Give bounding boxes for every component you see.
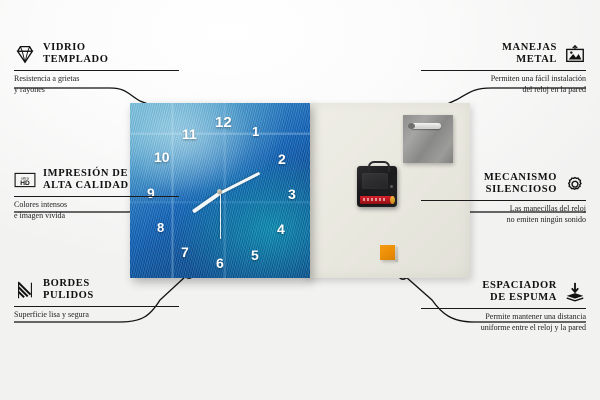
diamond-icon [14, 43, 36, 65]
clock-numeral-11: 11 [182, 127, 197, 141]
clock-numeral-7: 7 [181, 245, 189, 259]
feature-title: VIDRIO TEMPLADO [43, 42, 108, 67]
feature-divider [14, 196, 179, 197]
feature-desc: Colores intensos e imagen vívida [14, 200, 179, 222]
movement-screw [390, 185, 393, 188]
feature-divider [421, 200, 586, 201]
feature-title-line1: ESPACIADOR [421, 280, 557, 292]
clock-numeral-12: 12 [215, 115, 232, 130]
wall-hanger-icon [564, 43, 586, 65]
feature-head: ultra HD IMPRESIÓN DE ALTA CALIDAD [14, 168, 179, 193]
feature-vidrio-templado: VIDRIO TEMPLADO Resistencia a grietas y … [14, 42, 179, 95]
feature-title-line1: MECANISMO [421, 172, 557, 184]
feature-mecanismo-silencioso: MECANISMO SILENCIOSO Las manecillas del … [421, 172, 586, 225]
ultra-hd-icon: ultra HD [14, 169, 36, 191]
feature-head: ESPACIADOR DE ESPUMA [421, 280, 586, 305]
feature-divider [421, 308, 586, 309]
polished-edges-icon [14, 279, 36, 301]
product-photo: 12 1 2 3 4 5 6 7 8 9 10 11 [130, 103, 470, 278]
battery [360, 196, 394, 204]
feature-desc-line1: Superficie lisa y segura [14, 310, 179, 321]
movement-hanging-loop [368, 161, 390, 172]
feature-desc-line2: no emiten ningún sonido [421, 215, 586, 226]
feature-title-line1: MANEJAS [421, 42, 557, 54]
feature-title-line1: BORDES [43, 278, 94, 290]
feature-divider [14, 70, 179, 71]
clock-numeral-3: 3 [288, 187, 296, 201]
feature-desc: Las manecillas del reloj no emiten ningú… [421, 204, 586, 226]
battery-terminal [390, 196, 395, 204]
feature-divider [421, 70, 586, 71]
clock-numeral-4: 4 [277, 222, 285, 236]
feature-desc-line1: Resistencia a grietas [14, 74, 179, 85]
gear-icon [564, 173, 586, 195]
clock-numeral-1: 1 [252, 125, 259, 138]
hanger-keyhole-slot [411, 123, 441, 129]
feature-desc-line1: Colores intensos [14, 200, 179, 211]
feature-desc: Permiten una fácil instalación del reloj… [421, 74, 586, 96]
clock-movement [357, 166, 397, 207]
metal-hanger-plate [403, 115, 453, 163]
feature-title-line1: VIDRIO [43, 42, 108, 54]
feature-desc-line2: y rayones [14, 85, 179, 96]
feature-title-line2: ALTA CALIDAD [43, 180, 129, 192]
clock-numeral-6: 6 [216, 256, 224, 270]
feature-manejas-metal: MANEJAS METAL Permiten una fácil instala… [421, 42, 586, 95]
feature-head: BORDES PULIDOS [14, 278, 179, 303]
feature-title-line2: PULIDOS [43, 290, 94, 302]
feature-desc-line1: Las manecillas del reloj [421, 204, 586, 215]
feature-bordes-pulidos: BORDES PULIDOS Superficie lisa y segura [14, 278, 179, 321]
feature-desc-line2: uniforme entre el reloj y la pared [421, 323, 586, 334]
feature-divider [14, 306, 179, 307]
foam-spacer-icon [564, 281, 586, 303]
clock-center-cap [217, 189, 222, 194]
feature-title: ESPACIADOR DE ESPUMA [421, 280, 557, 305]
infographic-stage: 12 1 2 3 4 5 6 7 8 9 10 11 VI [0, 0, 600, 400]
feature-title-line1: IMPRESIÓN DE [43, 168, 129, 180]
feature-title-line2: TEMPLADO [43, 54, 108, 66]
feature-desc: Resistencia a grietas y rayones [14, 74, 179, 96]
battery-label [363, 198, 385, 201]
feature-head: MANEJAS METAL [421, 42, 586, 67]
feature-desc-line2: e imagen vívida [14, 211, 179, 222]
feature-impresion-alta-calidad: ultra HD IMPRESIÓN DE ALTA CALIDAD Color… [14, 168, 179, 221]
movement-plate [362, 173, 388, 189]
feature-head: MECANISMO SILENCIOSO [421, 172, 586, 197]
feature-title-line2: SILENCIOSO [421, 184, 557, 196]
feature-title-line2: METAL [421, 54, 557, 66]
clock-numeral-5: 5 [251, 248, 259, 262]
foam-spacer [380, 245, 395, 260]
feature-desc-line2: del reloj en la pared [421, 85, 586, 96]
feature-title-line2: DE ESPUMA [421, 292, 557, 304]
feature-espaciador-espuma: ESPACIADOR DE ESPUMA Permite mantener un… [421, 280, 586, 333]
clock-numeral-2: 2 [278, 152, 286, 166]
clock-numeral-8: 8 [157, 221, 164, 234]
feature-title: BORDES PULIDOS [43, 278, 94, 303]
feature-desc-line1: Permite mantener una distancia [421, 312, 586, 323]
feature-title: MANEJAS METAL [421, 42, 557, 67]
feature-title: IMPRESIÓN DE ALTA CALIDAD [43, 168, 129, 193]
svg-text:HD: HD [20, 181, 30, 188]
feature-head: VIDRIO TEMPLADO [14, 42, 179, 67]
feature-desc-line1: Permiten una fácil instalación [421, 74, 586, 85]
feature-title: MECANISMO SILENCIOSO [421, 172, 557, 197]
clock-numeral-10: 10 [154, 150, 170, 164]
feature-desc: Superficie lisa y segura [14, 310, 179, 321]
feature-desc: Permite mantener una distancia uniforme … [421, 312, 586, 334]
